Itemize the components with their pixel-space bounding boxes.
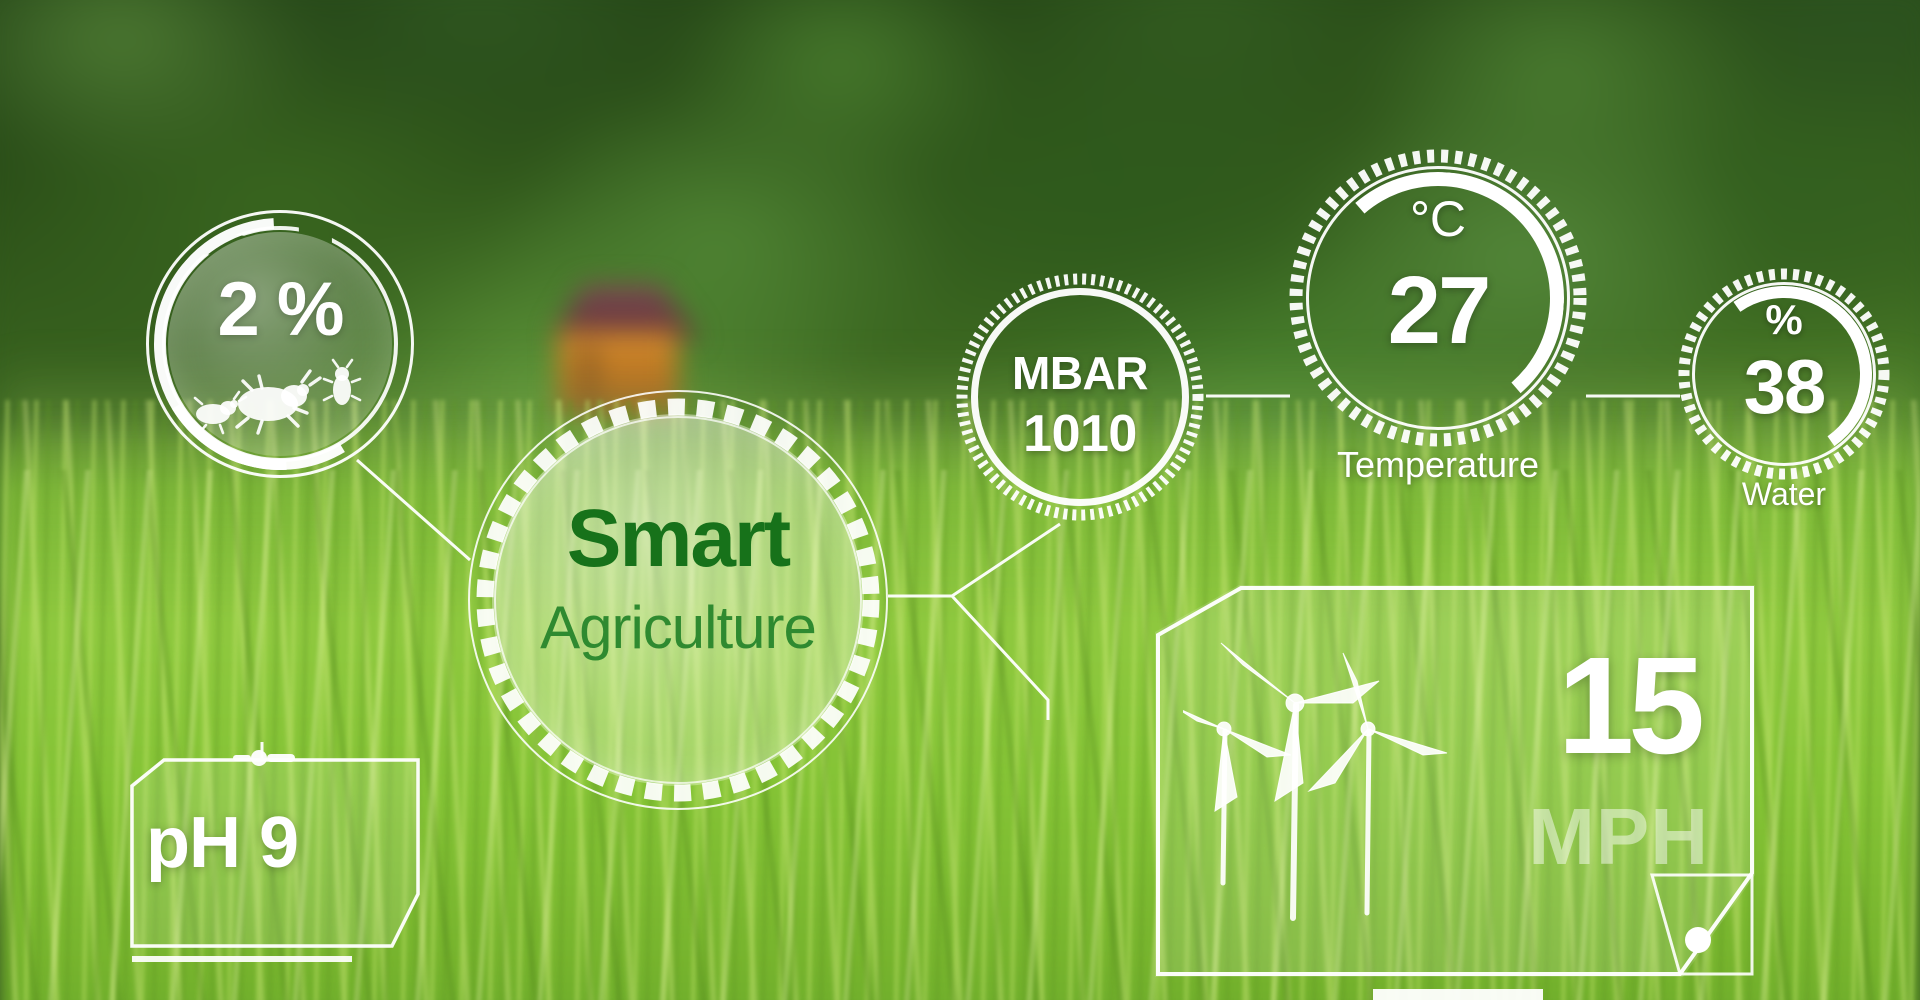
temperature-value: 27 — [1288, 256, 1588, 366]
insect-pest-icon — [190, 352, 370, 440]
wind-unit: MPH — [1528, 797, 1709, 877]
wind-bottom-bar — [1373, 989, 1543, 1000]
pressure-value: 1010 — [955, 404, 1205, 464]
ph-footer-bar — [132, 956, 352, 962]
ph-value: pH 9 — [146, 802, 396, 884]
hub-title-line1: Smart — [468, 498, 888, 580]
pest-value: 2 % — [146, 266, 414, 353]
temperature-widget[interactable]: °C 27 Temperature — [1288, 148, 1588, 448]
water-value: 38 — [1678, 344, 1890, 431]
pressure-label: MBAR — [955, 346, 1205, 400]
pressure-widget[interactable]: MBAR 1010 — [955, 272, 1205, 522]
wind-value: 15 — [1558, 637, 1700, 775]
ph-connector-node — [233, 750, 295, 766]
wind-corner-dot — [1685, 927, 1711, 953]
smart-agriculture-hub[interactable]: Smart Agriculture — [468, 390, 888, 810]
hub-title-line2: Agriculture — [468, 598, 888, 658]
pest-widget[interactable]: 2 % — [146, 210, 414, 478]
temperature-unit: °C — [1288, 190, 1588, 248]
water-caption: Water — [1658, 476, 1910, 513]
water-unit: % — [1678, 296, 1890, 344]
ph-widget[interactable]: pH 9 — [130, 750, 430, 980]
hud-overlay: 2 % — [0, 0, 1920, 1000]
wind-widget[interactable]: 15 MPH — [1155, 585, 1755, 995]
wind-turbine-icon — [1183, 633, 1483, 963]
water-widget[interactable]: % 38 Water — [1678, 268, 1890, 480]
temperature-caption: Temperature — [1258, 444, 1618, 486]
